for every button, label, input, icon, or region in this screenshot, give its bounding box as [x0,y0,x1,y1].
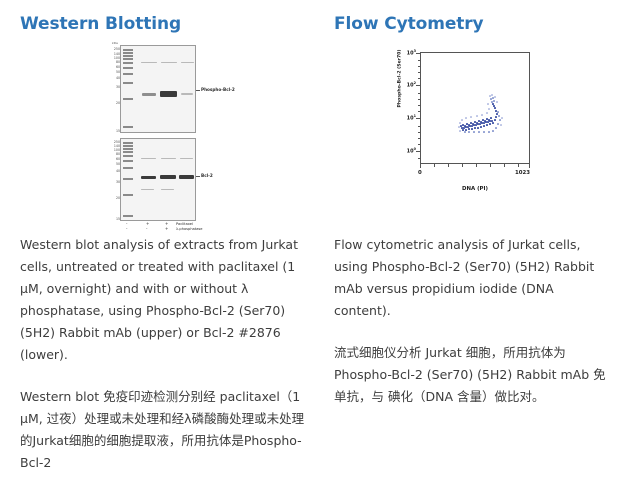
page-title-flow-cytometry: Flow Cytometry [334,0,616,34]
flow-cytometry-caption-english: Flow cytometric analysis of Jurkat cells… [334,234,606,322]
ladder-value: 40 [108,170,120,173]
ladder-value: 250 [108,48,120,51]
ladder-value: 60 [108,66,120,69]
blot-label-bcl-2: Bcl-2 [201,173,213,178]
ladder-value: 80 [108,61,120,64]
page-title-western-blotting: Western Blotting [20,0,304,34]
blot-label-phospho-bcl-2: Phospho-Bcl-2 [201,87,235,92]
ladder-value: 15 [108,218,120,221]
western-blot-caption-english: Western blot analysis of extracts from J… [20,234,306,366]
kda-axis-label: kDa [112,41,118,45]
x-tick-label-max: 1023 [515,170,530,176]
ladder-value: 60 [108,158,120,161]
flow-cytometry-column: Flow Cytometry Phospho-Bcl-2 (Ser70) 103… [312,0,624,495]
flow-cytometry-caption-chinese: 流式细胞仪分析 Jurkat 细胞，所用抗体为 Phospho-Bcl-2 (S… [334,342,606,408]
western-blot-caption-chinese: Western blot 免疫印迹检测分别经 paclitaxel（1 μM, … [20,386,306,474]
ladder-value: 40 [108,77,120,80]
ladder-value: 30 [108,86,120,89]
western-blot-figure: kDa 250 140 100 80 60 50 40 30 20 15 250 [20,42,304,232]
ladder-value: 20 [108,102,120,105]
ladder-value: 50 [108,71,120,74]
treatment-row-phosphatase: - - + λ-phosphatase [120,227,218,232]
ladder-value: 15 [108,130,120,133]
blot-treatment-annotations: - + + Paclitaxel - - + λ-phosphatase [120,222,218,234]
treatment-name: λ-phosphatase [176,227,203,231]
flow-cytometry-figure: Phospho-Bcl-2 (Ser70) 103 102 101 100 [334,42,616,232]
x-tick-label-min: 0 [418,170,422,176]
ladder-value: 80 [108,153,120,156]
y-axis-ticks [402,46,420,170]
ladder-value: 30 [108,181,120,184]
ladder-value: 50 [108,163,120,166]
x-axis-title: DNA (PI) [420,186,530,192]
western-blot-image: kDa 250 140 100 80 60 50 40 30 20 15 250 [98,42,218,220]
treatment-sign: + [165,227,168,231]
blot-panel-upper [120,45,196,133]
ladder-value: 20 [108,197,120,200]
scatter-plot-area [420,52,530,164]
treatment-sign: - [146,227,147,231]
treatment-sign: - [126,227,127,231]
flow-cytometry-chart: Phospho-Bcl-2 (Ser70) 103 102 101 100 [382,46,547,216]
figure-page: Western Blotting kDa 250 140 100 80 60 5… [0,0,624,495]
blot-panel-lower [120,138,196,221]
western-blotting-column: Western Blotting kDa 250 140 100 80 60 5… [0,0,312,495]
treatment-name: Paclitaxel [176,222,193,226]
